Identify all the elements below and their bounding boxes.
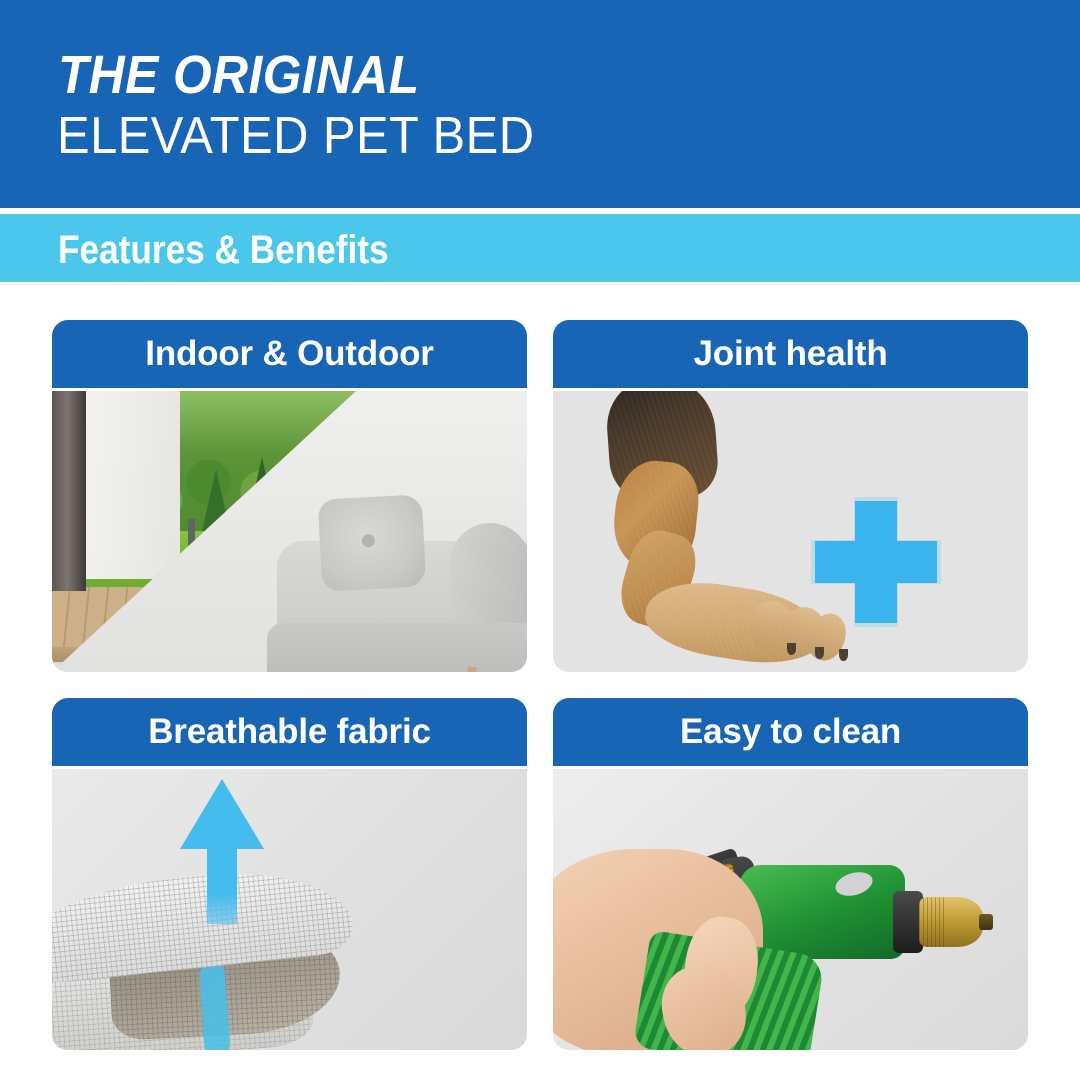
airflow-up-arrow-icon	[180, 779, 264, 924]
feature-card-image-easy-to-clean	[553, 769, 1028, 1050]
dog-claw	[787, 643, 796, 655]
sofa-leg	[466, 667, 477, 672]
product-title-banner: THE ORIGINAL ELEVATED PET BED	[0, 0, 1080, 208]
feature-card-header: Joint health	[553, 320, 1028, 388]
mesh-fabric-photo	[52, 769, 527, 1050]
nozzle-body	[739, 865, 905, 959]
feature-card-indoor-outdoor: Indoor & Outdoor	[52, 320, 527, 675]
dog-claw	[839, 649, 848, 661]
sofa-cushion	[318, 494, 427, 591]
feature-card-title: Joint health	[694, 334, 888, 374]
feature-card-title: Indoor & Outdoor	[145, 334, 433, 374]
arrow-shaft	[207, 845, 237, 924]
cushion-button	[361, 534, 375, 548]
brand-title-primary: THE ORIGINAL	[58, 46, 420, 104]
nozzle-tip	[979, 914, 993, 930]
dog-paw-photo	[553, 391, 1028, 672]
hose-nozzle-photo	[553, 769, 1028, 1050]
feature-card-header: Indoor & Outdoor	[52, 320, 527, 388]
medical-cross-icon	[815, 501, 937, 623]
feature-card-image-breathable-fabric	[52, 769, 527, 1050]
feature-card-title: Easy to clean	[680, 712, 901, 752]
features-benefits-bar: Features & Benefits	[0, 214, 1080, 282]
features-benefits-label: Features & Benefits	[58, 228, 389, 272]
sofa-seat	[267, 623, 527, 672]
feature-card-image-indoor-outdoor	[52, 391, 527, 672]
feature-card-header: Breathable fabric	[52, 698, 527, 766]
indoor-outdoor-composite-photo	[52, 391, 527, 672]
feature-card-image-joint-health	[553, 391, 1028, 672]
dog-claw	[815, 647, 824, 659]
feature-card-easy-to-clean: Easy to clean	[553, 698, 1028, 1053]
feature-card-title: Breathable fabric	[148, 712, 431, 752]
brand-title-secondary: ELEVATED PET BED	[57, 108, 534, 164]
feature-card-joint-health: Joint health	[553, 320, 1028, 675]
arrow-head	[180, 779, 264, 849]
feature-card-breathable-fabric: Breathable fabric	[52, 698, 527, 1053]
feature-card-header: Easy to clean	[553, 698, 1028, 766]
house-wall	[84, 391, 180, 579]
patio-door-frame	[52, 391, 86, 591]
brass-knurling	[919, 897, 947, 947]
